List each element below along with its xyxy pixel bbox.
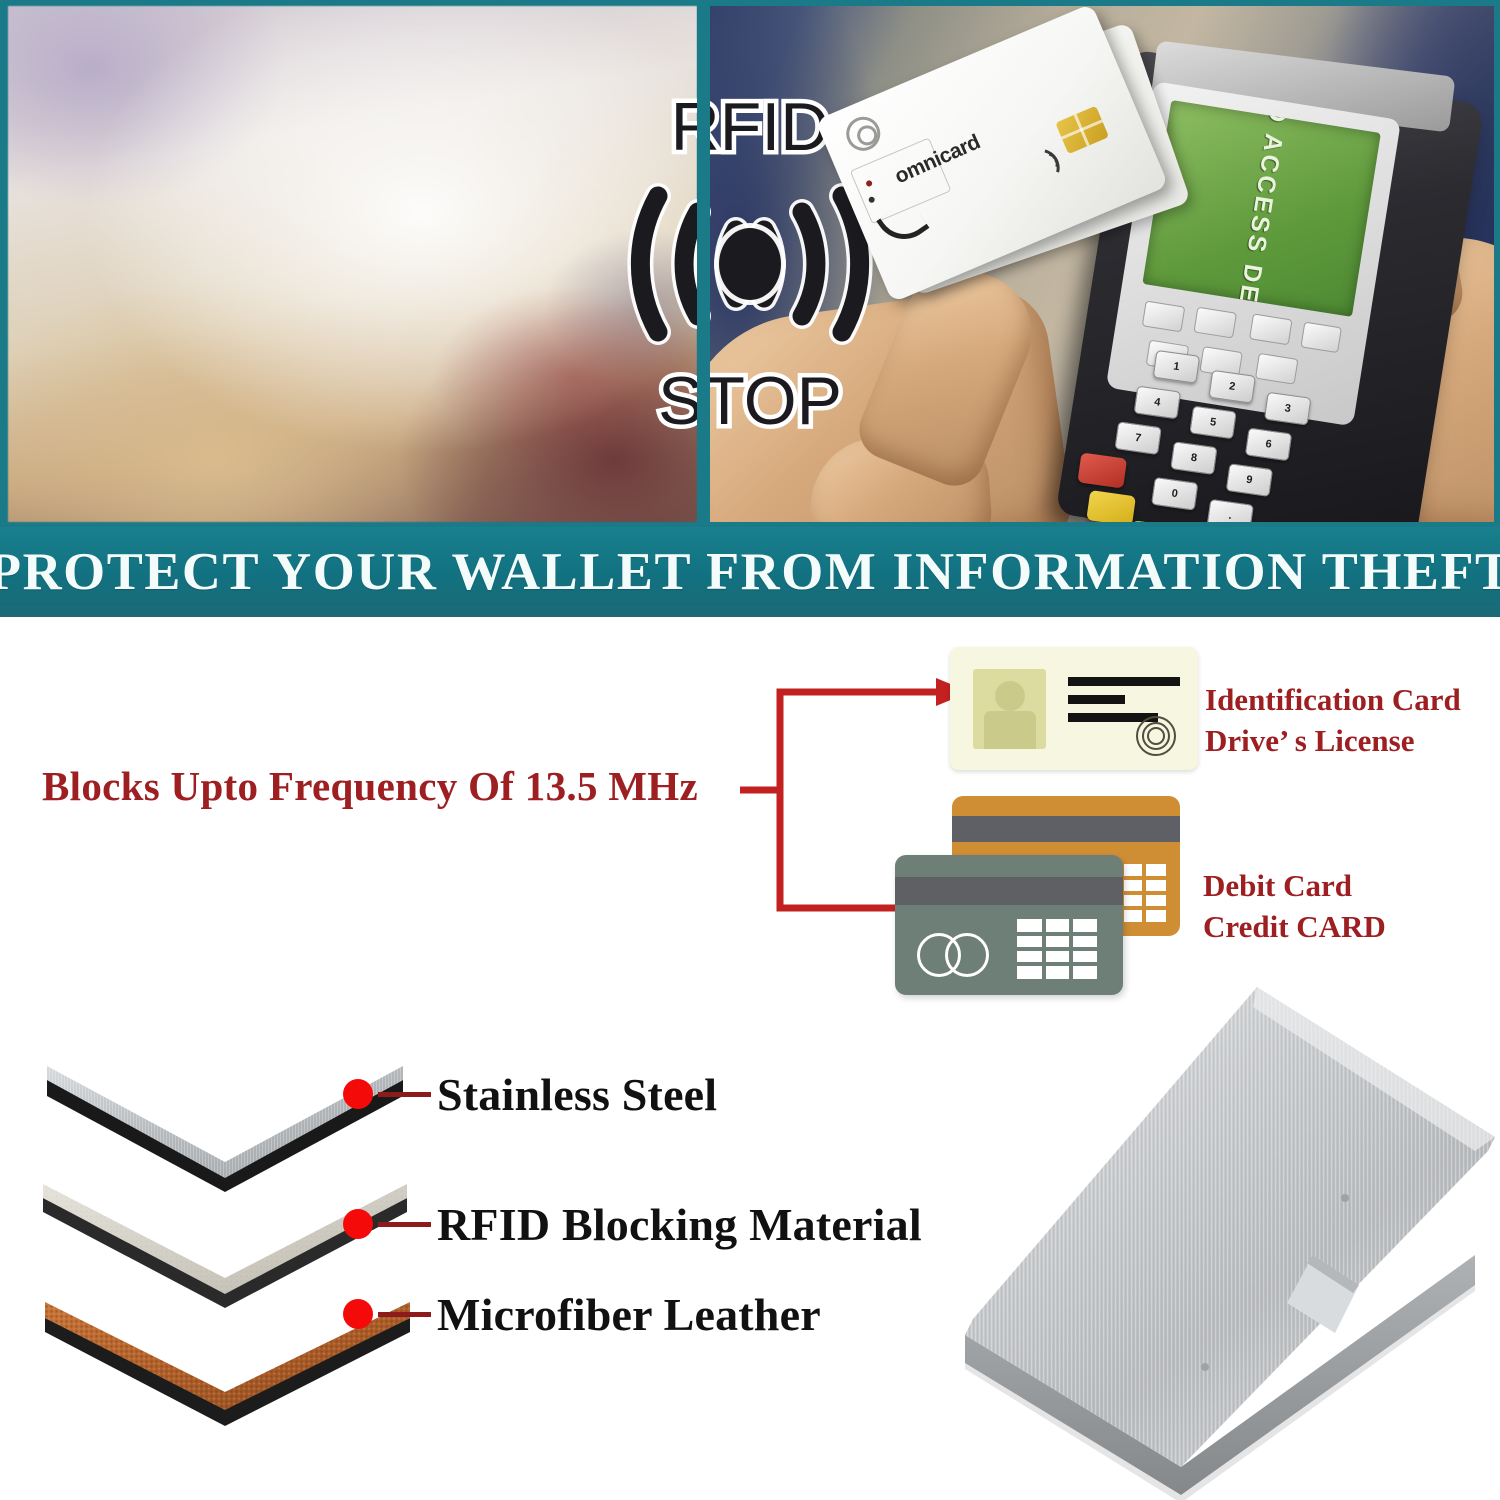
payment-cards-label: Debit Card Credit CARD bbox=[1203, 866, 1386, 948]
id-text-line-1 bbox=[1068, 677, 1180, 686]
id-label-line-2: Drive’ s License bbox=[1205, 721, 1461, 762]
identification-card-label: Identification Card Drive’ s License bbox=[1205, 680, 1461, 762]
keypad-key-8[interactable]: 8 bbox=[1170, 441, 1217, 475]
leader-line-steel bbox=[378, 1092, 431, 1097]
id-photo-placeholder bbox=[973, 669, 1046, 749]
pos-screen-message: CARD ACCESS DENIED bbox=[1221, 100, 1303, 317]
keypad-key-1[interactable]: 1 bbox=[1153, 350, 1200, 384]
keypad-key-5[interactable]: 5 bbox=[1189, 406, 1236, 440]
stainless-steel-card-case bbox=[935, 955, 1500, 1500]
rfid-blocking-layer bbox=[43, 1184, 407, 1308]
layer-label-microfiber: Microfiber Leather bbox=[437, 1288, 821, 1341]
magnetic-stripe bbox=[952, 816, 1180, 842]
keypad-key-9[interactable]: 9 bbox=[1226, 463, 1273, 497]
photo-divider bbox=[697, 0, 710, 527]
debit-label-line-1: Debit Card bbox=[1203, 866, 1386, 907]
keypad-key-3[interactable]: 3 bbox=[1264, 392, 1311, 426]
rfid-logo-bottom-text: STOP bbox=[658, 363, 842, 439]
contactless-wave-icon bbox=[1009, 138, 1070, 201]
keypad-key-dot[interactable]: . bbox=[1206, 499, 1253, 522]
pos-screen: CARD ACCESS DENIED bbox=[1142, 100, 1380, 317]
id-label-line-1: Identification Card bbox=[1205, 680, 1461, 721]
callout-dot-leather bbox=[343, 1299, 373, 1329]
headline-text: PROTECT YOUR WALLET FROM INFORMATION THE… bbox=[0, 542, 1500, 602]
magnetic-stripe bbox=[895, 877, 1123, 905]
top-photo-strip: RFID RFID STOP STOP omnicard bbox=[0, 0, 1500, 527]
identification-card-graphic bbox=[950, 647, 1198, 770]
callout-dot-rfid bbox=[343, 1209, 373, 1239]
pos-nav-key-func[interactable] bbox=[1249, 313, 1293, 345]
keypad-key-6[interactable]: 6 bbox=[1245, 427, 1292, 461]
case-rivet-bottom bbox=[1201, 1363, 1209, 1371]
debit-label-line-2: Credit CARD bbox=[1203, 907, 1386, 948]
id-rfid-symbol-icon bbox=[1136, 716, 1176, 756]
frequency-statement: Blocks Upto Frequency Of 13.5 MHz bbox=[42, 762, 698, 810]
keypad-key-7[interactable]: 7 bbox=[1114, 421, 1161, 455]
keypad-clear-key[interactable] bbox=[1086, 490, 1136, 522]
pos-nav-key-power[interactable] bbox=[1300, 322, 1342, 354]
keypad-key-4[interactable]: 4 bbox=[1134, 386, 1181, 420]
callout-dot-steel bbox=[343, 1079, 373, 1109]
keypad-key-2[interactable]: 2 bbox=[1208, 370, 1255, 404]
rfid-logo-top-text: RFID bbox=[671, 89, 830, 165]
card-chip-icon bbox=[1055, 106, 1109, 154]
keypad-enter-key[interactable] bbox=[1128, 520, 1178, 522]
keypad-key-0[interactable]: 0 bbox=[1151, 477, 1198, 511]
card-ring-icon bbox=[841, 111, 886, 156]
layer-label-rfid-blocking: RFID Blocking Material bbox=[437, 1198, 922, 1251]
keypad-cancel-key[interactable] bbox=[1077, 452, 1127, 488]
id-text-line-2 bbox=[1068, 695, 1125, 704]
leader-line-rfid bbox=[378, 1222, 431, 1227]
case-rivet-top bbox=[1341, 1194, 1349, 1202]
pos-nav-key-menu[interactable] bbox=[1193, 307, 1237, 339]
leader-line-leather bbox=[378, 1312, 431, 1317]
headline-banner: PROTECT YOUR WALLET FROM INFORMATION THE… bbox=[0, 527, 1500, 617]
layer-label-stainless-steel: Stainless Steel bbox=[437, 1068, 717, 1121]
pos-nav-key-up[interactable] bbox=[1142, 300, 1186, 332]
